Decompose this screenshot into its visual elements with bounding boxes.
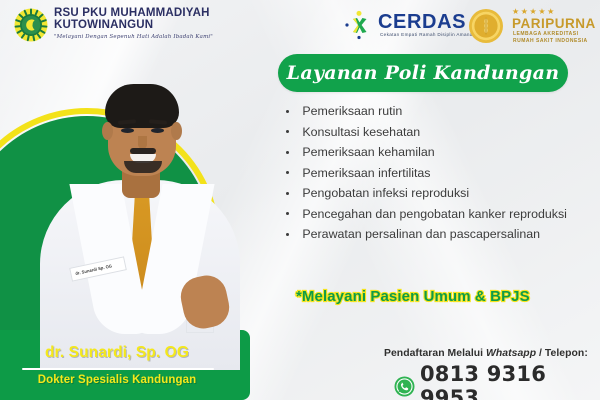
contact-footer: Pendaftaran Melalui Whatsapp / Telepon: … <box>360 348 600 400</box>
muhammadiyah-sun-logo-icon: ؟ <box>14 8 48 42</box>
registration-label-before: Pendaftaran Melalui <box>384 348 486 359</box>
doctor-eye-left <box>121 128 134 133</box>
doctor-hair <box>105 84 179 128</box>
hospital-name: RSU PKU MUHAMMADIYAH KUTOWINANGUN <box>54 7 213 32</box>
header-bar: ؟ RSU PKU MUHAMMADIYAH KUTOWINANGUN "Mel… <box>0 0 600 52</box>
service-title-banner: Layanan Poli Kandungan <box>278 54 568 92</box>
bullet-icon <box>286 110 289 113</box>
doctor-ear-right <box>171 122 182 140</box>
service-label: Pemeriksaan rutin <box>302 104 594 118</box>
list-item: Pemeriksaan infertilitas <box>278 166 594 180</box>
doctor-name-divider <box>22 368 214 370</box>
accreditation-badge: ★★★★★ PARIPURNA LEMBAGA AKREDITASI RUMAH… <box>468 4 600 50</box>
hospital-tagline: "Melayani Dengan Sepenuh Hati Adalah Iba… <box>54 34 213 40</box>
doctor-beard <box>124 161 162 173</box>
accreditation-body-line2: RUMAH SAKIT INDONESIA <box>513 38 588 44</box>
bullet-icon <box>286 151 289 154</box>
registration-label: Pendaftaran Melalui Whatsapp / Telepon: <box>360 348 600 359</box>
gold-medal-icon <box>468 8 504 44</box>
hospital-identity: RSU PKU MUHAMMADIYAH KUTOWINANGUN "Melay… <box>54 7 213 40</box>
service-label: Perawatan persalinan dan pascapersalinan <box>302 227 594 241</box>
accreditation-stars: ★★★★★ <box>512 7 556 16</box>
list-item: Konsultasi kesehatan <box>278 125 594 139</box>
doctor-name: dr. Sunardi, Sp. OG <box>12 344 222 362</box>
list-item: Pengobatan infeksi reproduksi <box>278 186 594 200</box>
list-item: Pemeriksaan kehamilan <box>278 145 594 159</box>
bullet-icon <box>286 130 289 133</box>
accreditation-level: PARIPURNA <box>512 16 596 31</box>
phone-row[interactable]: 0813 9316 9953 <box>360 362 600 400</box>
service-list: Pemeriksaan rutin Konsultasi kesehatan P… <box>278 104 594 248</box>
service-label: Konsultasi kesehatan <box>302 125 594 139</box>
bullet-icon <box>286 192 289 195</box>
cerdas-people-icon <box>344 10 374 40</box>
service-title-text: Layanan Poli Kandungan <box>287 62 560 84</box>
doctor-specialty: Dokter Spesialis Kandungan <box>12 374 222 386</box>
service-label: Pencegahan dan pengobatan kanker reprodu… <box>302 207 594 221</box>
whatsapp-word: Whatsapp <box>486 348 536 359</box>
phone-number[interactable]: 0813 9316 9953 <box>420 362 600 400</box>
doctor-ear-left <box>102 122 113 140</box>
poster-canvas: ؟ RSU PKU MUHAMMADIYAH KUTOWINANGUN "Mel… <box>0 0 600 400</box>
accreditation-body-line1: LEMBAGA AKREDITASI <box>513 31 578 37</box>
list-item: Pencegahan dan pengobatan kanker reprodu… <box>278 207 594 221</box>
bullet-icon <box>286 233 289 236</box>
bullet-icon <box>286 212 289 215</box>
bullet-icon <box>286 171 289 174</box>
list-item: Perawatan persalinan dan pascapersalinan <box>278 227 594 241</box>
list-item: Pemeriksaan rutin <box>278 104 594 118</box>
cerdas-wordmark: CERDAS <box>378 11 466 34</box>
doctor-eye-right <box>151 128 164 133</box>
service-label: Pengobatan infeksi reproduksi <box>302 186 594 200</box>
service-label: Pemeriksaan kehamilan <box>302 145 594 159</box>
service-label: Pemeriksaan infertilitas <box>302 166 594 180</box>
whatsapp-icon[interactable] <box>394 376 415 397</box>
doctor-photo: dr. Sunardi Sp. OG <box>36 62 246 362</box>
bpjs-notice: *Melayani Pasien Umum & BPJS <box>296 288 596 305</box>
svg-text:؟: ؟ <box>30 23 33 30</box>
doctor-panel: dr. Sunardi Sp. OG dr. Sunardi, Sp. OG D… <box>0 52 266 400</box>
cerdas-logo: CERDAS Cekatan Empati Ramah Disiplin Ama… <box>344 8 484 44</box>
registration-label-after: / Telepon: <box>536 348 588 359</box>
